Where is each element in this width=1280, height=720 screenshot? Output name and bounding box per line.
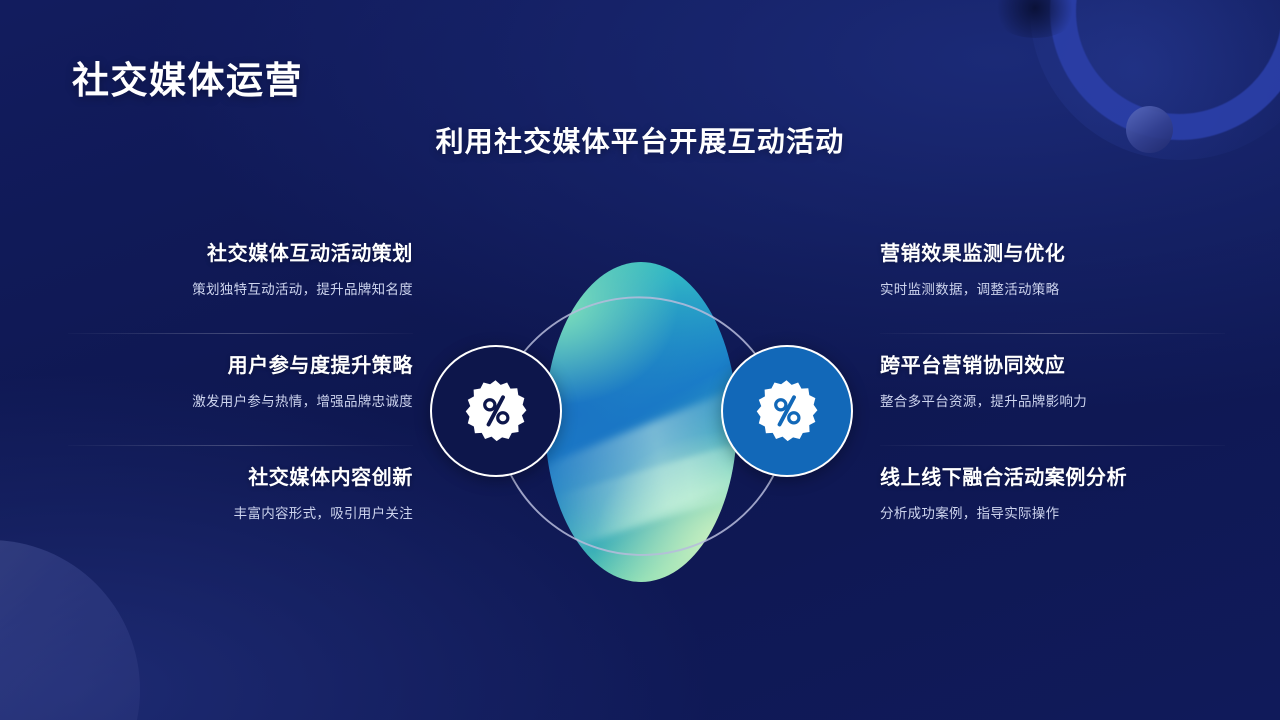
list-item-desc: 激发用户参与热情，增强品牌忠诚度 bbox=[68, 393, 413, 411]
ring-decoration bbox=[1050, 0, 1280, 140]
list-item-title: 跨平台营销协同效应 bbox=[880, 344, 1225, 379]
list-item-desc: 整合多平台资源，提升品牌影响力 bbox=[880, 393, 1225, 411]
list-item[interactable]: 跨平台营销协同效应 整合多平台资源，提升品牌影响力 bbox=[880, 344, 1225, 456]
list-item-desc: 分析成功案例，指导实际操作 bbox=[880, 505, 1225, 523]
right-column: 营销效果监测与优化 实时监测数据，调整活动策略 跨平台营销协同效应 整合多平台资… bbox=[880, 232, 1225, 568]
blot-decoration bbox=[990, 0, 1080, 38]
left-column: 社交媒体互动活动策划 策划独特互动活动，提升品牌知名度 用户参与度提升策略 激发… bbox=[68, 232, 413, 568]
node-right[interactable] bbox=[721, 345, 853, 477]
list-item-desc: 丰富内容形式，吸引用户关注 bbox=[68, 505, 413, 523]
list-item-title: 用户参与度提升策略 bbox=[68, 344, 413, 379]
list-item-title: 社交媒体互动活动策划 bbox=[68, 232, 413, 267]
center-graphic bbox=[453, 262, 828, 592]
list-item-title: 社交媒体内容创新 bbox=[68, 456, 413, 491]
list-item[interactable]: 社交媒体互动活动策划 策划独特互动活动，提升品牌知名度 bbox=[68, 232, 413, 344]
page-title: 社交媒体运营 bbox=[72, 50, 303, 104]
node-left[interactable] bbox=[430, 345, 562, 477]
list-item[interactable]: 社交媒体内容创新 丰富内容形式，吸引用户关注 bbox=[68, 456, 413, 568]
percent-badge-icon bbox=[756, 380, 818, 442]
list-item-title: 线上线下融合活动案例分析 bbox=[880, 456, 1225, 491]
list-item[interactable]: 营销效果监测与优化 实时监测数据，调整活动策略 bbox=[880, 232, 1225, 344]
list-item[interactable]: 线上线下融合活动案例分析 分析成功案例，指导实际操作 bbox=[880, 456, 1225, 568]
list-item[interactable]: 用户参与度提升策略 激发用户参与热情，增强品牌忠诚度 bbox=[68, 344, 413, 456]
list-item-desc: 策划独特互动活动，提升品牌知名度 bbox=[68, 281, 413, 299]
list-item-title: 营销效果监测与优化 bbox=[880, 232, 1225, 267]
list-item-desc: 实时监测数据，调整活动策略 bbox=[880, 281, 1225, 299]
percent-badge-icon bbox=[465, 380, 527, 442]
page-subtitle: 利用社交媒体平台开展互动活动 bbox=[0, 120, 1280, 160]
